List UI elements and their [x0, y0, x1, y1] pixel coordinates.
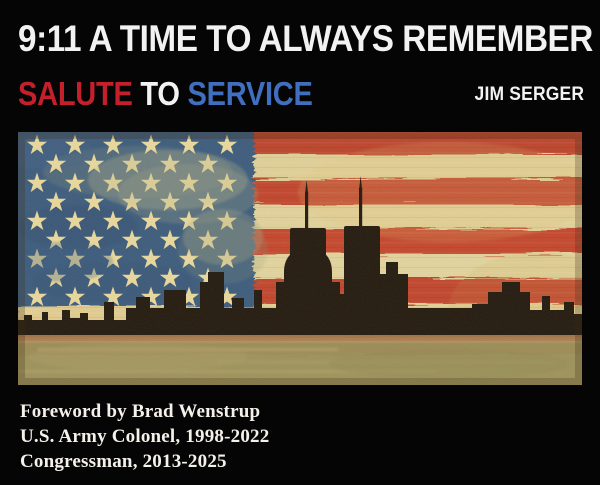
subtitle-word-to: TO	[140, 75, 179, 112]
foreword-line-2: U.S. Army Colonel, 1998-2022	[20, 424, 269, 449]
book-cover: 9:11 A TIME TO ALWAYS REMEMBER SALUTE TO…	[0, 0, 600, 485]
foreword-block: Foreword by Brad Wenstrup U.S. Army Colo…	[20, 399, 269, 474]
author-name: JIM SERGER	[474, 84, 584, 106]
subtitle-word-salute: SALUTE	[18, 75, 133, 112]
foreword-line-3: Congressman, 2013-2025	[20, 449, 269, 474]
foreword-line-1: Foreword by Brad Wenstrup	[20, 399, 269, 424]
grain-overlay	[18, 132, 582, 385]
subtitle-text: SALUTE TO SERVICE	[18, 76, 313, 112]
cover-artwork	[18, 132, 582, 385]
subtitle-word-service: SERVICE	[187, 75, 312, 112]
page-title: 9:11 A TIME TO ALWAYS REMEMBER	[18, 20, 527, 58]
flag-skyline-illustration	[18, 132, 582, 385]
